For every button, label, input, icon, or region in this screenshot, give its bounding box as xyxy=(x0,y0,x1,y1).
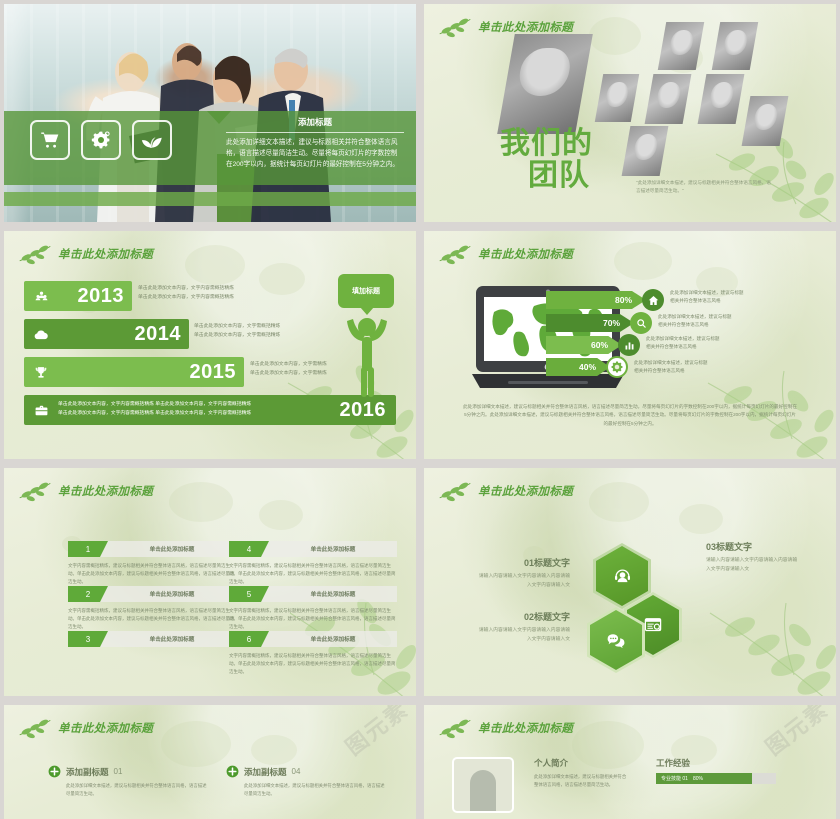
cover-slide[interactable]: 添加标题 此处添加详细文本描述，建议与标题相关并符合整体语言风格，语言描述尽量简… xyxy=(4,4,416,222)
support-headset-icon xyxy=(614,568,631,585)
list-item-bar: 6 单击此处添加标题 xyxy=(229,631,397,647)
list-item[interactable]: 4 单击此处添加标题 文字内容需概括精炼，建议与标题相关并符合整体语言风格，语言… xyxy=(229,541,397,586)
team-heading-line1: 我们的 xyxy=(500,130,593,159)
cover-title: 添加标题 xyxy=(226,116,404,128)
team-portrait xyxy=(645,74,692,124)
bar-chart-icon xyxy=(618,334,640,356)
subhead-heading-2: 添加副标题 xyxy=(244,766,287,778)
slide-title: 单击此处添加标题 xyxy=(58,720,153,736)
slide-heading: 单击此处添加标题 xyxy=(18,243,153,265)
timeline-year: 2013 xyxy=(78,285,125,308)
gear-icon xyxy=(606,356,628,378)
list-item[interactable]: 2 单击此处添加标题 文字内容需概括精炼，建议与标题相关并符合整体语言风格，语言… xyxy=(68,586,236,631)
list-item[interactable]: 6 单击此处添加标题 文字内容需概括精炼，建议与标题相关并符合整体语言风格，语言… xyxy=(229,631,397,676)
subhead-block-2[interactable]: 添加副标题 04 此处添加详细文本描述，建议与标题相关并符合整体语言风格，语言描… xyxy=(226,765,386,798)
chart-bar-label-1: 80% xyxy=(615,295,632,305)
cover-green-band-lower xyxy=(4,192,416,206)
list-item-bar: 1 单击此处添加标题 xyxy=(68,541,236,557)
skill-bar-fill: 专业技能 01 80% xyxy=(656,773,752,784)
team-portrait xyxy=(712,22,758,70)
home-icon xyxy=(642,289,664,311)
slide-heading: 单击此处添加标题 xyxy=(18,717,153,739)
timeline-note-2016: 单击此处添加文本内容，文字内容需概括精炼 单击此处添加文本内容，文字内容需概括精… xyxy=(58,401,340,419)
trophy-icon xyxy=(24,357,58,387)
watermark: 图元素 xyxy=(758,705,834,762)
list-item-body: 文字内容需概括精炼，建议与标题相关并符合整体语言风格，语言描述尽量简洁生动。单击… xyxy=(229,652,397,676)
numbered-list-slide[interactable]: 单击此处添加标题 1 单击此处添加标题 文字内容需概括精炼，建议与标题相关并符合… xyxy=(4,468,416,696)
chart-bar-label-4: 40% xyxy=(579,362,596,372)
plus-circle-icon xyxy=(226,765,239,778)
timeline-row-2016[interactable]: 单击此处添加文本内容，文字内容需概括精炼 单击此处添加文本内容，文字内容需概括精… xyxy=(24,395,396,425)
list-item-bar: 2 单击此处添加标题 xyxy=(68,586,236,602)
chart-bar-4[interactable]: 40% xyxy=(546,358,610,376)
leaf-sprig-icon xyxy=(438,16,472,38)
list-item[interactable]: 3 单击此处添加标题 xyxy=(68,631,236,652)
list-item-heading: 单击此处添加标题 xyxy=(108,590,236,598)
watermark: 图元素 xyxy=(338,705,414,762)
team-portrait-main xyxy=(497,34,593,134)
slide-title: 单击此处添加标题 xyxy=(478,483,573,499)
team-portrait xyxy=(595,74,639,122)
list-item-body: 文字内容需概括精炼，建议与标题相关并符合整体语言风格，语言描述尽量简洁生动。单击… xyxy=(68,607,236,631)
timeline-year: 2014 xyxy=(135,323,182,346)
list-item[interactable]: 5 单击此处添加标题 文字内容需概括精炼，建议与标题相关并符合整体语言风格，语言… xyxy=(229,586,397,631)
list-item-body: 文字内容需概括精炼，建议与标题相关并符合整体语言风格，语言描述尽量简洁生动。单击… xyxy=(229,607,397,631)
chart-bar-label-3: 60% xyxy=(591,340,608,350)
slide-title: 单击此处添加标题 xyxy=(478,246,573,262)
timeline-year: 2016 xyxy=(340,399,387,422)
timeline-note-2014: 单击此处添加文本内容，文字需概括精炼 单击此处添加文本内容，文字需概括精炼 xyxy=(194,323,324,341)
team-slide[interactable]: 单击此处添加标题 我们的 团队 "此处添加详细文本描述，建议与标题相关并符合整体… xyxy=(424,4,836,222)
person-avatar-icon xyxy=(452,757,514,813)
team-portrait xyxy=(742,96,789,146)
leaf-sprig-icon xyxy=(18,243,52,265)
timeline-slide[interactable]: 单击此处添加标题 2013 单击此处添加文本内容，文字内容需概括精炼 单击此处添… xyxy=(4,231,416,459)
team-portrait xyxy=(622,126,669,176)
slide-title: 单击此处添加标题 xyxy=(58,246,153,262)
skill-value: 80% xyxy=(693,776,703,782)
gear-icon[interactable] xyxy=(81,120,121,160)
subheading-slide[interactable]: 图元素 单击此处添加标题 添加副标题 xyxy=(4,705,416,819)
subhead-header-row: 添加副标题 01 xyxy=(48,765,208,778)
timeline-row-2014[interactable]: 2014 xyxy=(24,319,189,349)
person-cheering-icon xyxy=(342,309,392,399)
slide-heading: 单击此处添加标题 xyxy=(438,243,573,265)
chart-desc-4: 此处添加详细文本描述，建议与标题相关并符合整体语言风格 xyxy=(634,359,712,375)
group-people-icon xyxy=(24,281,58,311)
timeline-row-2015[interactable]: 2015 xyxy=(24,357,244,387)
timeline-note-2013: 单击此处添加文本内容，文字内容需概括精炼 单击此处添加文本内容，文字内容需概括精… xyxy=(138,285,268,303)
subhead-number-1: 01 xyxy=(114,767,123,776)
list-item-heading: 单击此处添加标题 xyxy=(108,545,236,553)
chart-bar-3[interactable]: 60% xyxy=(546,336,622,354)
slide-title: 单击此处添加标题 xyxy=(478,720,573,736)
cover-icon-row xyxy=(30,120,172,160)
chart-bar-2[interactable]: 70% xyxy=(546,314,634,332)
leaf-sprig-icon xyxy=(438,480,472,502)
shopping-cart-icon[interactable] xyxy=(30,120,70,160)
hexagon-body-1: 请输入内容请输入文字内容请输入内容请输入文字内容请输入文 xyxy=(478,573,570,590)
subhead-body-2: 此处添加详细文本描述，建议与标题相关并符合整体语言风格，语言描述尽量简洁生动。 xyxy=(244,782,386,798)
cover-text-column: 添加标题 此处添加详细文本描述，建议与标题相关并符合整体语言风格，语言描述尽量简… xyxy=(226,116,404,171)
list-item-number: 6 xyxy=(229,631,269,647)
hexagon-body-3: 请输入内容请输入文字内容请输入内容请输入文字内容请输入文 xyxy=(706,557,798,574)
leaf-branch-decoration xyxy=(652,309,836,459)
search-icon xyxy=(630,312,652,334)
skill-bar-track[interactable]: 专业技能 01 80% xyxy=(656,773,776,784)
subhead-header-row: 添加副标题 04 xyxy=(226,765,386,778)
list-item-number: 1 xyxy=(68,541,108,557)
timeline-bubble-label[interactable]: 填加标题 xyxy=(338,274,394,308)
chart-bar-label-2: 70% xyxy=(603,318,620,328)
list-item-bar: 5 单击此处添加标题 xyxy=(229,586,397,602)
list-item-bar: 3 单击此处添加标题 xyxy=(68,631,236,647)
laptop-slide-footer: 此处添加详细文本描述，建议与标题相关并符合整体语言风格，语言描述尽量简洁生动。尽… xyxy=(462,403,798,428)
team-caption: "此处添加详细文本描述，建议与标题相关并符合整体语言风格，语言描述尽量简洁生动。… xyxy=(636,179,771,195)
subhead-body-1: 此处添加详细文本描述，建议与标题相关并符合整体语言风格，语言描述尽量简洁生动。 xyxy=(66,782,208,798)
slide-heading: 单击此处添加标题 xyxy=(438,480,573,502)
leaf-sprig-icon xyxy=(438,717,472,739)
profile-heading: 个人简介 xyxy=(534,757,630,769)
laptop-chart-slide[interactable]: 单击此处添加标题 80% 此处添加详细文本描 xyxy=(424,231,836,459)
profile-column: 个人简介 此处添加详细文本描述，建议与标题相关并符合整体语言风格，语言描述尽量简… xyxy=(534,757,630,789)
team-portrait xyxy=(658,22,704,70)
hexagon-body-2: 请输入内容请输入文字内容请输入内容请输入文字内容请输入文 xyxy=(478,627,570,644)
slide-heading: 单击此处添加标题 xyxy=(18,480,153,502)
timeline-year: 2015 xyxy=(190,361,237,384)
list-item-heading: 单击此处添加标题 xyxy=(269,545,397,553)
briefcase-icon xyxy=(24,405,58,416)
slide-deck-grid: 添加标题 此处添加详细文本描述，建议与标题相关并符合整体语言风格，语言描述尽量简… xyxy=(0,0,840,788)
list-item-number: 4 xyxy=(229,541,269,557)
subhead-block-1[interactable]: 添加副标题 01 此处添加详细文本描述，建议与标题相关并符合整体语言风格，语言描… xyxy=(48,765,208,798)
list-item-heading: 单击此处添加标题 xyxy=(269,590,397,598)
list-item-number: 2 xyxy=(68,586,108,602)
chat-bubbles-icon xyxy=(607,633,625,648)
team-heading-line2: 团队 xyxy=(528,162,590,191)
hexagon-heading-2: 02标题文字 xyxy=(478,610,570,623)
hexagon-label-1: 01标题文字 请输入内容请输入文字内容请输入内容请输入文字内容请输入文 xyxy=(478,556,570,590)
subhead-number-2: 04 xyxy=(292,767,301,776)
list-item-body: 文字内容需概括精炼，建议与标题相关并符合整体语言风格，语言描述尽量简洁生动。单击… xyxy=(68,562,236,586)
chart-desc-3: 此处添加详细文本描述，建议与标题相关并符合整体语言风格 xyxy=(646,335,724,351)
subhead-heading-1: 添加副标题 xyxy=(66,766,109,778)
browser-search-icon xyxy=(644,617,662,633)
list-item-heading: 单击此处添加标题 xyxy=(269,635,397,643)
timeline-row-2013[interactable]: 2013 xyxy=(24,281,132,311)
cloud-icon xyxy=(24,319,58,349)
profile-body: 此处添加详细文本描述，建议与标题相关并符合整体语言风格，语言描述尽量简洁生动。 xyxy=(534,773,630,789)
chart-desc-1: 此处添加详细文本描述，建议与标题相关并符合整体语言风格 xyxy=(670,289,748,305)
hexagon-heading-3: 03标题文字 xyxy=(706,540,798,553)
list-item-bar: 4 单击此处添加标题 xyxy=(229,541,397,557)
hexagon-label-2: 02标题文字 请输入内容请输入文字内容请输入内容请输入文字内容请输入文 xyxy=(478,610,570,644)
leaf-icon[interactable] xyxy=(132,120,172,160)
hexagon-label-3: 03标题文字 请输入内容请输入文字内容请输入内容请输入文字内容请输入文 xyxy=(706,540,798,574)
cover-body: 此处添加详细文本描述，建议与标题相关并符合整体语言风格，语言描述尽量简洁生动。尽… xyxy=(226,138,404,171)
list-item-heading: 单击此处添加标题 xyxy=(108,635,236,643)
plus-circle-icon xyxy=(48,765,61,778)
leaf-sprig-icon xyxy=(438,243,472,265)
skill-label: 专业技能 01 xyxy=(661,775,688,782)
chart-bar-1[interactable]: 80% xyxy=(546,291,646,309)
leaf-sprig-icon xyxy=(18,717,52,739)
chart-desc-2: 此处添加详细文本描述，建议与标题相关并符合整体语言风格 xyxy=(658,313,736,329)
resume-slide[interactable]: 图元素 单击此处添加标题 个人简介 此处添加详细文本描述，建议与标题相关并符合整… xyxy=(424,705,836,819)
experience-heading: 工作经验 xyxy=(656,757,776,769)
slide-title: 单击此处添加标题 xyxy=(58,483,153,499)
list-item-body: 文字内容需概括精炼，建议与标题相关并符合整体语言风格，语言描述尽量简洁生动。单击… xyxy=(229,562,397,586)
team-portrait xyxy=(698,74,745,124)
hexagon-heading-1: 01标题文字 xyxy=(478,556,570,569)
hexagon-slide[interactable]: 单击此处添加标题 xyxy=(424,468,836,696)
cover-divider xyxy=(226,132,404,133)
slide-heading: 单击此处添加标题 xyxy=(438,717,573,739)
slide-title: 单击此处添加标题 xyxy=(478,19,573,35)
list-item-number: 5 xyxy=(229,586,269,602)
list-item-number: 3 xyxy=(68,631,108,647)
experience-column: 工作经验 专业技能 01 80% xyxy=(656,757,776,784)
leaf-sprig-icon xyxy=(18,480,52,502)
list-item[interactable]: 1 单击此处添加标题 文字内容需概括精炼，建议与标题相关并符合整体语言风格，语言… xyxy=(68,541,236,586)
